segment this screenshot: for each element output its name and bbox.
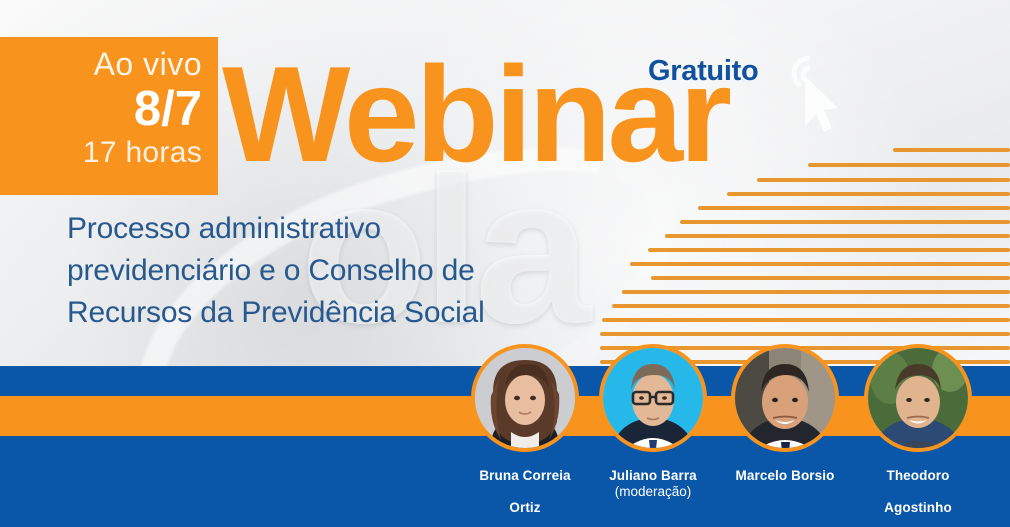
juliano-barra-photo [603,348,703,448]
speaker-card-2: Juliano Barra (moderação) [578,344,728,500]
speaker-name-2: Ortiz [450,500,600,516]
avatar [471,344,579,452]
theodoro-agostinho-photo [868,348,968,448]
speaker-name: Theodoro [843,468,993,484]
avatar [731,344,839,452]
speakers-row: Bruna Correia Ortiz [0,0,1010,527]
webinar-banner: ola Ao vivo 8/7 17 horas Webinar Gratuit… [0,0,1010,527]
bruna-correia-ortiz-photo [475,348,575,448]
speaker-name-2: Agostinho [843,500,993,516]
avatar [864,344,972,452]
marcelo-borsio-photo [735,348,835,448]
speaker-name: Marcelo Borsio [710,468,860,484]
avatar [599,344,707,452]
speaker-card-3: Marcelo Borsio [710,344,860,484]
speaker-card-4: Theodoro Agostinho [843,344,993,516]
speaker-name: Juliano Barra [578,468,728,484]
speaker-role: (moderação) [578,484,728,500]
